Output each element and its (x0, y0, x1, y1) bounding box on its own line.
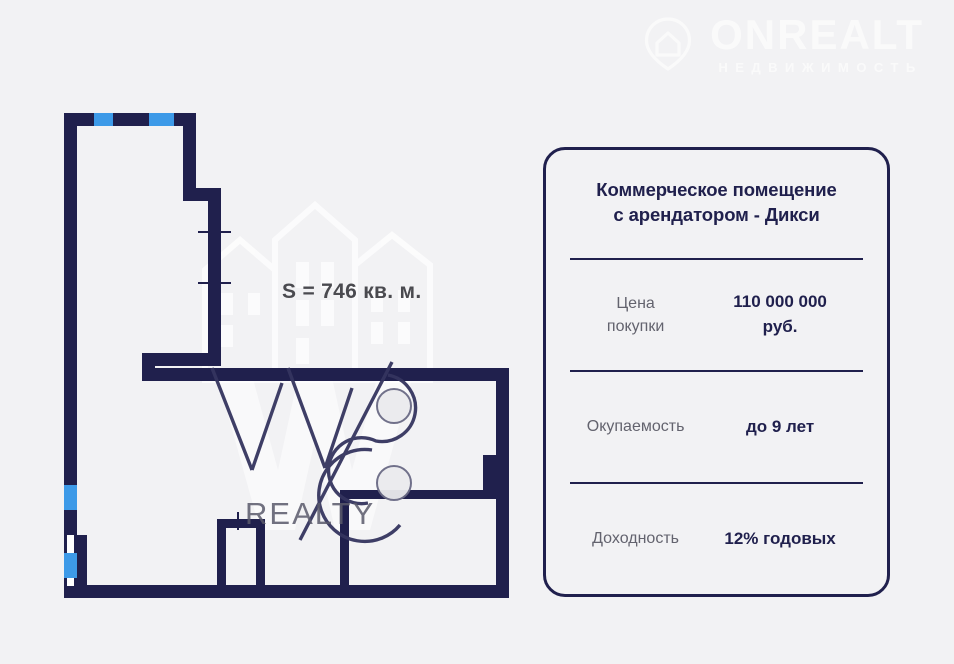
onrealt-brand-text: ONREALT (710, 14, 924, 56)
onrealt-subtitle-text: НЕДВИЖИМОСТЬ (718, 61, 922, 74)
card-title-line1: Коммерческое помещение (568, 178, 865, 203)
property-info-card: Коммерческое помещение с арендатором - Д… (543, 147, 890, 597)
price-label-line2: покупки (572, 315, 699, 338)
title-spacer (546, 228, 887, 258)
info-row-price: Цена покупки 110 000 000 руб. (546, 260, 887, 370)
info-row-price-value: 110 000 000 руб. (699, 290, 861, 339)
card-title: Коммерческое помещение с арендатором - Д… (546, 150, 887, 228)
info-row-yield-label: Доходность (572, 527, 699, 550)
price-value-line2: руб. (699, 315, 861, 340)
onrealt-watermark: ONREALT НЕДВИЖИМОСТЬ (640, 14, 924, 74)
info-row-payback-label: Окупаемость (572, 415, 699, 438)
card-title-line2: с арендатором - Дикси (568, 203, 865, 228)
info-row-price-label: Цена покупки (572, 292, 699, 338)
price-value-line1: 110 000 000 (699, 290, 861, 315)
info-row-payback-value: до 9 лет (699, 415, 861, 440)
floor-plan-windows (64, 113, 174, 578)
onrealt-wordmark: ONREALT НЕДВИЖИМОСТЬ (710, 14, 924, 74)
w8-realty-label: REALTY (245, 496, 375, 531)
price-label-line1: Цена (572, 292, 699, 315)
floor-plan: REALTY (0, 0, 540, 664)
location-pin-house-icon (640, 16, 696, 72)
info-row-yield: Доходность 12% годовых (546, 484, 887, 594)
area-label: S = 746 кв. м. (282, 280, 421, 304)
info-row-yield-value: 12% годовых (699, 527, 861, 552)
info-row-payback: Окупаемость до 9 лет (546, 372, 887, 482)
